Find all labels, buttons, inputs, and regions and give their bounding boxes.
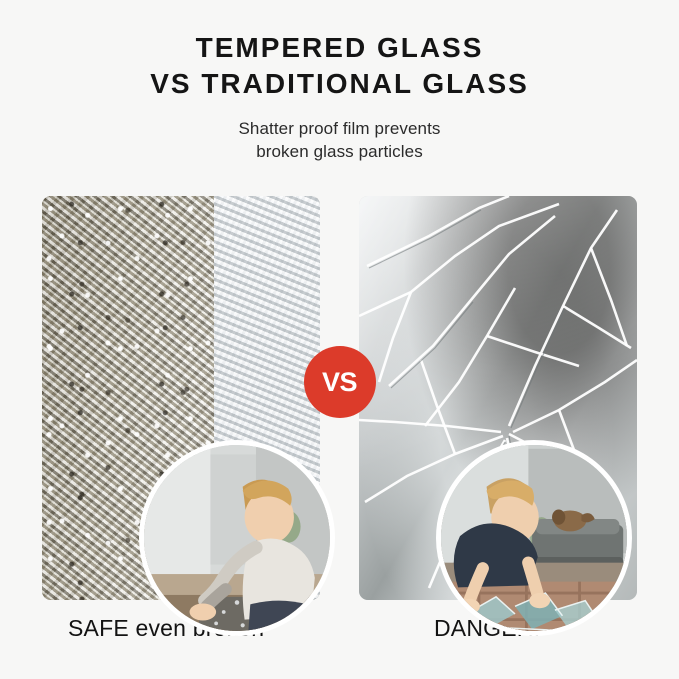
inset-photo-safe <box>139 440 335 636</box>
danger-child-photo <box>441 445 627 631</box>
header: TEMPERED GLASS VS TRADITIONAL GLASS Shat… <box>0 0 679 164</box>
inset-photo-danger <box>436 440 632 636</box>
comparison-section: VS <box>42 196 637 600</box>
page-subtitle: Shatter proof film prevents broken glass… <box>0 118 679 164</box>
page-title: TEMPERED GLASS VS TRADITIONAL GLASS <box>0 30 679 102</box>
vs-label: VS <box>322 369 357 396</box>
safe-scene-illustration <box>144 445 330 631</box>
safe-child-photo <box>144 445 330 631</box>
danger-scene-illustration <box>441 445 627 631</box>
vs-badge: VS <box>304 346 376 418</box>
